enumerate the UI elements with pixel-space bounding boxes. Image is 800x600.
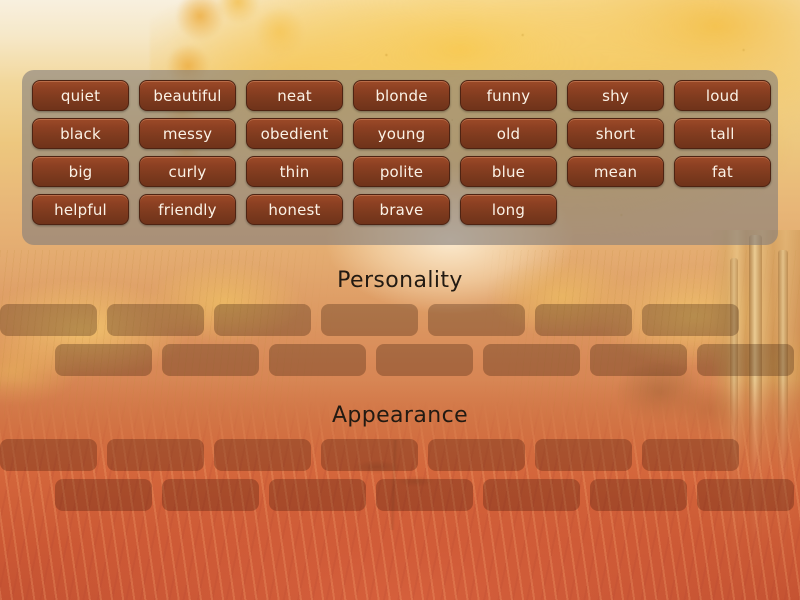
word-tile[interactable]: messy bbox=[139, 118, 236, 149]
word-tile[interactable]: funny bbox=[460, 80, 557, 111]
drop-slot[interactable] bbox=[55, 479, 152, 511]
drop-slot[interactable] bbox=[590, 479, 687, 511]
word-tile[interactable]: big bbox=[32, 156, 129, 187]
word-tile[interactable]: mean bbox=[567, 156, 664, 187]
word-tile[interactable]: blue bbox=[460, 156, 557, 187]
drop-slot[interactable] bbox=[107, 439, 204, 471]
word-tile[interactable]: loud bbox=[674, 80, 771, 111]
drop-slot[interactable] bbox=[162, 479, 259, 511]
drop-slot[interactable] bbox=[214, 304, 311, 336]
word-tile[interactable]: short bbox=[567, 118, 664, 149]
drop-slot[interactable] bbox=[269, 344, 366, 376]
word-bank-panel: quietbeautifulneatblondefunnyshyloudblac… bbox=[22, 70, 778, 245]
category-title-appearance: Appearance bbox=[0, 401, 800, 431]
drop-slot[interactable] bbox=[535, 304, 632, 336]
category-title-personality: Personality bbox=[0, 266, 800, 296]
drop-slot[interactable] bbox=[697, 479, 794, 511]
drop-slot[interactable] bbox=[321, 304, 418, 336]
category-personality: Personality bbox=[0, 266, 800, 376]
slot-container-appearance bbox=[0, 439, 800, 511]
drop-slot[interactable] bbox=[0, 439, 97, 471]
drop-slot[interactable] bbox=[697, 344, 794, 376]
drop-slot[interactable] bbox=[642, 439, 739, 471]
category-appearance: Appearance bbox=[0, 401, 800, 511]
word-tile[interactable]: black bbox=[32, 118, 129, 149]
word-tile[interactable]: obedient bbox=[246, 118, 343, 149]
word-tile[interactable]: polite bbox=[353, 156, 450, 187]
word-tile-row: blackmessyobedientyoungoldshorttall bbox=[32, 118, 778, 149]
drop-slot[interactable] bbox=[162, 344, 259, 376]
word-tile[interactable]: beautiful bbox=[139, 80, 236, 111]
drop-slot[interactable] bbox=[483, 479, 580, 511]
drop-slot[interactable] bbox=[535, 439, 632, 471]
word-tile-row: bigcurlythinpolitebluemeanfat bbox=[32, 156, 778, 187]
word-tile[interactable]: old bbox=[460, 118, 557, 149]
drop-slot-row bbox=[0, 344, 800, 376]
word-tile[interactable]: quiet bbox=[32, 80, 129, 111]
word-tile[interactable]: curly bbox=[139, 156, 236, 187]
drop-slot[interactable] bbox=[376, 344, 473, 376]
word-tile[interactable]: tall bbox=[674, 118, 771, 149]
word-tile[interactable]: friendly bbox=[139, 194, 236, 225]
drop-slot[interactable] bbox=[0, 304, 97, 336]
drop-slot[interactable] bbox=[269, 479, 366, 511]
word-tile-row: quietbeautifulneatblondefunnyshyloud bbox=[32, 80, 778, 111]
word-tile[interactable]: shy bbox=[567, 80, 664, 111]
drop-slot[interactable] bbox=[483, 344, 580, 376]
drop-slot-row bbox=[0, 304, 800, 336]
word-tile-row: helpfulfriendlyhonestbravelong bbox=[32, 194, 778, 225]
drop-slot[interactable] bbox=[214, 439, 311, 471]
word-tile[interactable]: young bbox=[353, 118, 450, 149]
word-tile[interactable]: blonde bbox=[353, 80, 450, 111]
drop-slot[interactable] bbox=[321, 439, 418, 471]
drop-slot-row bbox=[0, 439, 800, 471]
word-tile[interactable]: fat bbox=[674, 156, 771, 187]
word-tile[interactable]: brave bbox=[353, 194, 450, 225]
word-tile[interactable]: helpful bbox=[32, 194, 129, 225]
word-tile[interactable]: thin bbox=[246, 156, 343, 187]
word-tile[interactable]: neat bbox=[246, 80, 343, 111]
drop-slot[interactable] bbox=[55, 344, 152, 376]
drop-slot[interactable] bbox=[428, 304, 525, 336]
drop-slot[interactable] bbox=[107, 304, 204, 336]
drop-slot[interactable] bbox=[376, 479, 473, 511]
word-tile[interactable]: long bbox=[460, 194, 557, 225]
drop-slot[interactable] bbox=[590, 344, 687, 376]
drop-slot[interactable] bbox=[428, 439, 525, 471]
drop-slot-row bbox=[0, 479, 800, 511]
drop-slot[interactable] bbox=[642, 304, 739, 336]
word-tile[interactable]: honest bbox=[246, 194, 343, 225]
slot-container-personality bbox=[0, 304, 800, 376]
